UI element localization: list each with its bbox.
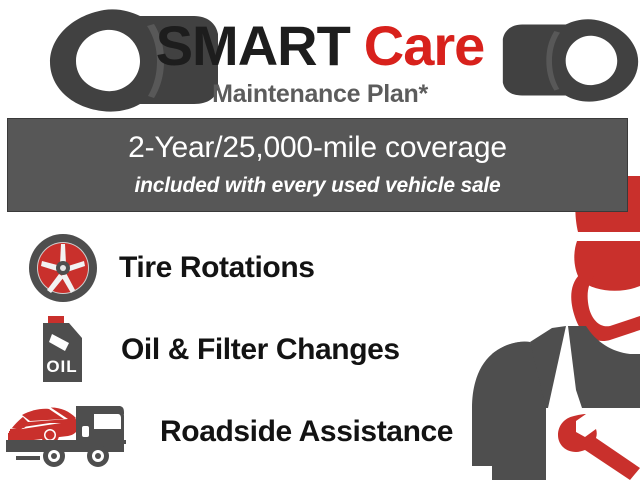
logo-header: SMARTCare Maintenance Plan* (0, 0, 640, 118)
feature-row-roadside-assistance: Roadside Assistance (6, 396, 453, 468)
oil-cap (48, 316, 64, 323)
wrench-icon (552, 404, 640, 480)
smart-care-graphic: SMARTCare Maintenance Plan* 2-Year/25,00… (0, 0, 640, 480)
feature-row-tire-rotations: Tire Rotations (28, 233, 315, 303)
coverage-banner: 2-Year/25,000-mile coverage included wit… (7, 118, 628, 212)
brand-subtitle: Maintenance Plan* (0, 82, 640, 107)
feature-label: Tire Rotations (119, 251, 315, 285)
coverage-headline: 2-Year/25,000-mile coverage (8, 133, 627, 163)
feature-label: Roadside Assistance (160, 415, 453, 449)
coverage-subline: included with every used vehicle sale (8, 175, 627, 196)
brand-word-care: Care (364, 14, 485, 77)
feature-label: Oil & Filter Changes (121, 333, 400, 367)
tire-icon (28, 233, 98, 303)
oil-jug-label: OIL (46, 357, 77, 376)
oil-jug-icon: OIL (36, 316, 88, 384)
tow-truck-icon (6, 396, 134, 468)
brand-word-smart: SMART (156, 14, 350, 77)
brand-wordmark: SMARTCare (0, 18, 640, 74)
feature-row-oil-filter-changes: OIL Oil & Filter Changes (36, 316, 400, 384)
